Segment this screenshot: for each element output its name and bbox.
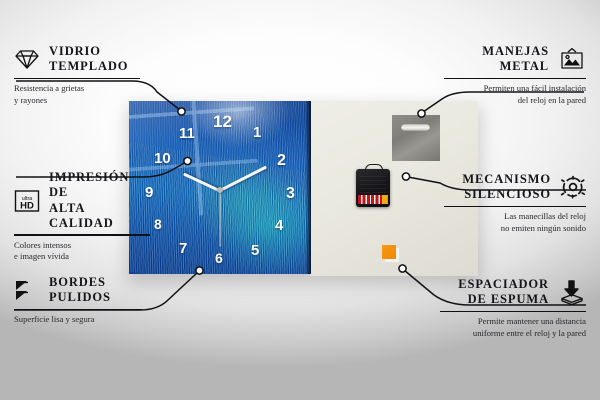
feature-mecanismo-silencioso: MECANISMO SILENCIOSO Las manecill: [444, 172, 586, 234]
feature-vidrio-templado: VIDRIO TEMPLADO Resistencia a grietas y …: [14, 44, 140, 106]
feature-description: Las manecillas del reloj no emiten ningú…: [444, 211, 586, 234]
clock-numeral-8: 8: [154, 217, 162, 231]
glass-clock-face: 12 1 2 3 4 5 6 7 8 9 10 11: [129, 101, 311, 274]
svg-text:HD: HD: [20, 200, 34, 211]
clock-numeral-10: 10: [154, 151, 171, 166]
mechanism-label-accent: [382, 195, 387, 204]
feature-description: Superficie lisa y segura: [14, 314, 142, 326]
feature-manejas-metal: MANEJAS METAL Permiten una fácil instala…: [444, 44, 586, 106]
gear-icon: [560, 175, 586, 199]
feature-header: VIDRIO TEMPLADO: [14, 44, 140, 75]
feature-description: Permite mantener una distancia uniforme …: [440, 316, 586, 339]
ultra-hd-icon: ultra HD: [14, 189, 40, 213]
feature-description: Colores intensos e imagen vívida: [14, 240, 150, 263]
mechanism-handle: [365, 164, 383, 173]
feature-description: Resistencia a grietas y rayones: [14, 83, 140, 106]
clock-numeral-11: 11: [179, 126, 195, 141]
metal-hanger-plate: [392, 115, 440, 161]
polished-edges-icon: [14, 278, 40, 302]
clock-second-hand: [219, 191, 220, 247]
clock-numeral-2: 2: [277, 153, 286, 169]
feature-title: IMPRESIÓN DE ALTA CALIDAD: [49, 170, 150, 231]
title-rule: [440, 311, 586, 313]
clock-numeral-3: 3: [286, 186, 295, 202]
feature-title: VIDRIO TEMPLADO: [49, 44, 128, 75]
feature-header: ESPACIADOR DE ESPUMA: [440, 277, 586, 308]
clock-numeral-12: 12: [213, 113, 232, 130]
feature-impresion-alta-calidad: ultra HD IMPRESIÓN DE ALTA CALIDAD Color…: [14, 170, 150, 263]
feature-title: BORDES PULIDOS: [49, 275, 111, 306]
clock-center-hub: [217, 187, 223, 193]
framed-picture-icon: [558, 47, 586, 71]
mechanism-texture: [360, 176, 386, 194]
feature-header: MECANISMO SILENCIOSO: [444, 172, 586, 203]
feature-espaciador-espuma: ESPACIADOR DE ESPUMA Permite mantener un…: [440, 277, 586, 339]
feature-description: Permiten una fácil instalación del reloj…: [444, 83, 586, 106]
clock-numeral-5: 5: [251, 243, 259, 258]
glass-right-edge: [306, 101, 311, 274]
feature-bordes-pulidos: BORDES PULIDOS Superficie lisa y segura: [14, 275, 142, 326]
diamond-icon: [14, 48, 40, 70]
feature-header: BORDES PULIDOS: [14, 275, 142, 306]
feature-header: ultra HD IMPRESIÓN DE ALTA CALIDAD: [14, 170, 150, 231]
quartz-mechanism-box: [356, 169, 390, 207]
hanger-keyhole-slot: [401, 124, 430, 131]
down-arrow-pad-icon: [558, 279, 586, 305]
feature-title: ESPACIADOR DE ESPUMA: [458, 277, 549, 308]
product-photo: 12 1 2 3 4 5 6 7 8 9 10 11: [122, 99, 480, 281]
title-rule: [14, 78, 140, 80]
title-rule: [14, 309, 142, 311]
title-rule: [14, 234, 150, 236]
clock-numeral-4: 4: [275, 218, 283, 233]
clock-numeral-1: 1: [253, 125, 261, 140]
foam-spacer: [382, 245, 396, 259]
clock-numeral-6: 6: [215, 251, 223, 265]
infographic-canvas: 12 1 2 3 4 5 6 7 8 9 10 11: [0, 0, 600, 400]
feature-title: MECANISMO SILENCIOSO: [462, 172, 551, 203]
title-rule: [444, 206, 586, 208]
feature-title: MANEJAS METAL: [482, 44, 549, 75]
clock-numeral-7: 7: [179, 241, 187, 256]
title-rule: [444, 78, 586, 80]
feature-header: MANEJAS METAL: [444, 44, 586, 75]
